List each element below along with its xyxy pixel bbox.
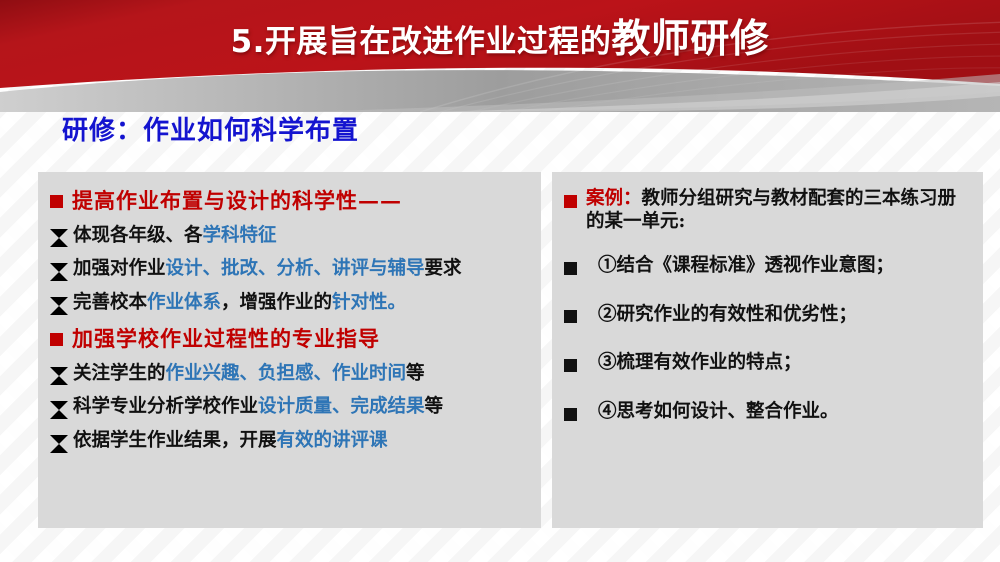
left-heading-2: 加强学校作业过程性的专业指导 (72, 326, 380, 352)
right-item-3-text: ③梳理有效作业的特点； (586, 352, 802, 375)
right-item-row-4: ④思考如何设计、整合作业。 (564, 401, 971, 424)
left-heading-row-1: 提高作业布置与设计的科学性—— (50, 188, 529, 214)
black-square-bullet-icon (564, 262, 577, 275)
slide-canvas: 5.开展旨在改进作业过程的教师研修 研修：作业如何科学布置 提高作业布置与设计的… (0, 0, 1000, 562)
left-item-row-1: 体现各年级、各学科特征 (50, 225, 529, 248)
left-item-row-2: 加强对作业设计、批改、分析、讲评与辅导要求 (50, 258, 529, 281)
left-item-1-text: 体现各年级、各学科特征 (73, 225, 277, 248)
left-heading-1: 提高作业布置与设计的科学性—— (72, 188, 402, 214)
black-diamond-bullet-icon (50, 367, 68, 385)
seg-blue: 设计、批改、分析、讲评与辅导 (166, 258, 425, 279)
black-square-bullet-icon (564, 310, 577, 323)
red-square-bullet-icon (50, 195, 63, 208)
seg: 加强对作业 (73, 258, 166, 279)
seg-blue: 针对性。 (332, 292, 406, 313)
right-heading-text: 案例：教师分组研究与教材配套的三本练习册的某一单元: (586, 188, 971, 233)
right-heading-row: 案例：教师分组研究与教材配套的三本练习册的某一单元: (564, 188, 971, 233)
page-title-emphasis: 教师研修 (611, 17, 769, 62)
subtitle: 研修：作业如何科学布置 (62, 110, 359, 147)
left-item-row-6: 依据学生作业结果，开展有效的讲评课 (50, 430, 529, 453)
red-square-bullet-icon (50, 333, 63, 346)
left-item-4-text: 关注学生的作业兴趣、负担感、作业时间等 (73, 363, 425, 386)
right-item-4-text: ④思考如何设计、整合作业。 (586, 401, 839, 424)
red-square-bullet-icon (564, 195, 577, 208)
left-item-6-text: 依据学生作业结果，开展有效的讲评课 (73, 430, 388, 453)
right-item-row-2: ②研究作业的有效性和优劣性； (564, 304, 971, 327)
seg-blue: 有效的讲评课 (277, 430, 388, 451)
seg: 要求 (425, 258, 462, 279)
black-square-bullet-icon (564, 359, 577, 372)
black-diamond-bullet-icon (50, 229, 68, 247)
black-square-bullet-icon (564, 408, 577, 421)
black-diamond-bullet-icon (50, 263, 68, 281)
right-content-panel: 案例：教师分组研究与教材配套的三本练习册的某一单元: ①结合《课程标准》透视作业… (552, 172, 983, 528)
seg: 等 (406, 363, 425, 384)
right-item-row-1: ①结合《课程标准》透视作业意图； (564, 255, 971, 278)
left-item-row-4: 关注学生的作业兴趣、负担感、作业时间等 (50, 363, 529, 386)
black-diamond-bullet-icon (50, 401, 68, 419)
left-item-5-text: 科学专业分析学校作业设计质量、完成结果等 (73, 396, 443, 419)
seg-blue: 设计质量、完成结果 (258, 396, 425, 417)
page-title: 5.开展旨在改进作业过程的教师研修 (0, 8, 1000, 64)
page-title-main: 5.开展旨在改进作业过程的 (231, 24, 612, 60)
seg-blue: 作业体系 (147, 292, 221, 313)
seg: 等 (425, 396, 444, 417)
left-content-panel: 提高作业布置与设计的科学性—— 体现各年级、各学科特征 加强对作业设计、批改、分… (38, 172, 541, 528)
seg: 依据学生作业结果，开展 (73, 430, 277, 451)
right-item-row-3: ③梳理有效作业的特点； (564, 352, 971, 375)
black-diamond-bullet-icon (50, 435, 68, 453)
left-item-2-text: 加强对作业设计、批改、分析、讲评与辅导要求 (73, 258, 462, 281)
seg: 关注学生的 (73, 363, 166, 384)
right-heading-lead: 案例： (586, 188, 642, 209)
seg: 完善校本 (73, 292, 147, 313)
right-item-2-text: ②研究作业的有效性和优劣性； (586, 304, 857, 327)
right-item-1-text: ①结合《课程标准》透视作业意图； (586, 255, 894, 278)
seg-blue: 学科特征 (203, 225, 277, 246)
left-item-3-text: 完善校本作业体系，增强作业的针对性。 (73, 292, 406, 315)
left-item-row-5: 科学专业分析学校作业设计质量、完成结果等 (50, 396, 529, 419)
black-diamond-bullet-icon (50, 297, 68, 315)
right-heading-body: 教师分组研究与教材配套的三本练习册的某一单元: (586, 188, 956, 232)
seg: 体现各年级、各 (73, 225, 203, 246)
left-item-row-3: 完善校本作业体系，增强作业的针对性。 (50, 292, 529, 315)
seg-blue: 作业兴趣、负担感、作业时间 (166, 363, 407, 384)
seg: 科学专业分析学校作业 (73, 396, 258, 417)
seg: ，增强作业的 (221, 292, 332, 313)
left-heading-row-2: 加强学校作业过程性的专业指导 (50, 326, 529, 352)
